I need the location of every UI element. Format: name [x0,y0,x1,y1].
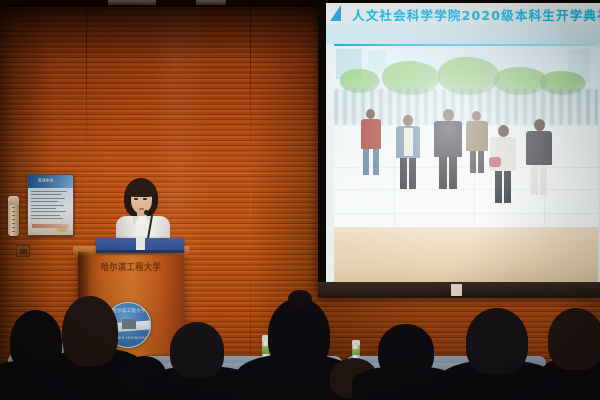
photo-person [466,111,488,173]
wall-seam [250,0,251,400]
photo-person [360,109,382,175]
water-bottle [352,340,360,358]
podium-university-name: 哈尔滨工程大学 [88,261,174,274]
audience-head [170,322,224,378]
wall-thermometer [8,196,19,236]
speaker-mouth [139,208,144,210]
speaker-eye [134,198,138,200]
ship-icon [122,319,136,329]
poster-stamp [56,226,68,233]
slide-photo [334,49,598,244]
speaker-document-folder [96,238,184,253]
slide-banner [326,22,600,44]
audience-head [378,324,434,378]
screen-surface: 人文社会科学学院2020级本科生开学典礼 [326,3,600,282]
screen-clip [451,284,462,296]
photo-person [434,109,462,189]
photo-person [396,115,420,189]
thermometer-top [8,196,19,205]
microphone-head-icon [144,210,149,215]
slide-lower-panel [334,227,598,282]
ceiling-fixture [196,0,226,5]
audience-head [466,308,528,374]
speaker-eye [143,198,147,200]
audience-head [548,308,600,370]
audience-head [62,296,118,366]
audience-head [268,298,330,370]
speaker-hair-front [127,181,156,197]
slide-banner-title: 人文社会科学学院2020级本科生开学典礼 [352,5,596,24]
ceiling-fixture [108,0,156,5]
banner-underline [334,44,598,46]
audience-hair-bun [288,290,312,308]
emblem-top-text: 哈尔滨工程大学 [112,308,146,316]
banner-triangle-icon [330,5,341,21]
thermometer-scale [12,207,15,232]
poster-title: 管理制度 [38,178,54,183]
photo-person [490,125,516,203]
poster-body-lines [31,191,70,222]
wall-outlet [16,245,30,257]
auditorium-scene: 管理制度 人文社会科学学院2020级本科生开学典礼 [0,0,600,400]
wall-notice-poster: 管理制度 [27,174,74,236]
projection-screen: 人文社会科学学院2020级本科生开学典礼 [318,2,600,298]
photo-person [526,119,552,195]
folder-edge [96,250,184,253]
